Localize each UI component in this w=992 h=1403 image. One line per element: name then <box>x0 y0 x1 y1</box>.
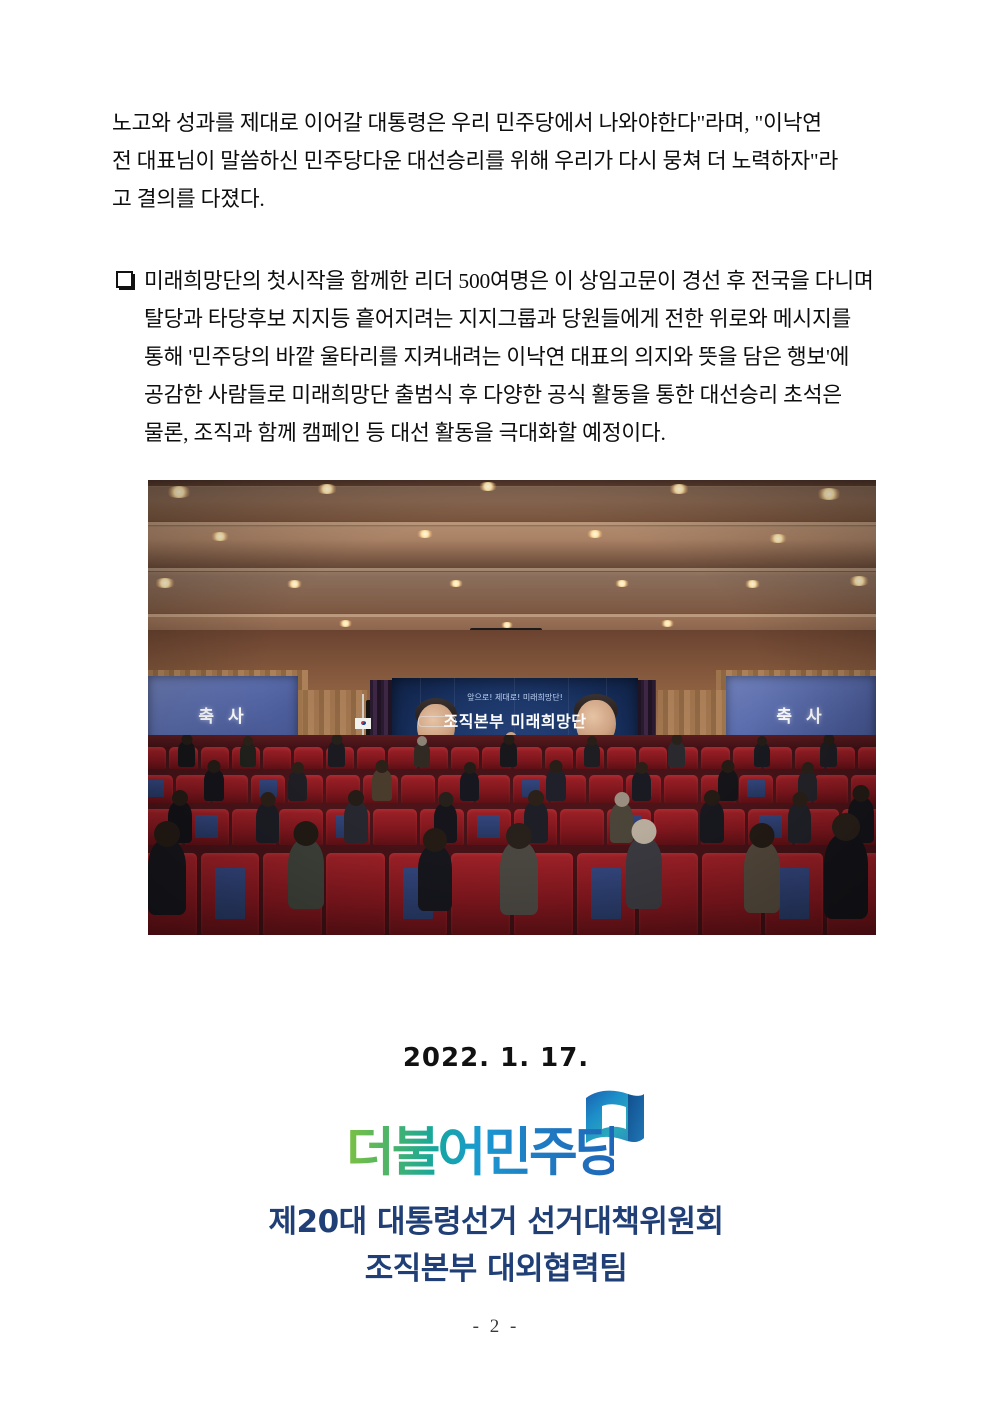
paragraph-continuation: 노고와 성과를 제대로 이어갈 대통령은 우리 민주당에서 나와야한다"라며, … <box>112 104 890 218</box>
organization-line-1: 제20대 대통령선거 선거대책위원회 <box>0 1196 992 1241</box>
document-date: 2022. 1. 17. <box>0 1043 992 1073</box>
paragraph-line-text: 미래희망단의 첫시작을 함께한 리더 500여명은 이 상임고문이 경선 후 전… <box>144 269 874 293</box>
paragraph-line-text: 탈당과 타당후보 지지등 흩어지려는 지지그룹과 당원들에게 전한 위로와 메시… <box>144 307 851 331</box>
audience-person <box>610 803 633 843</box>
paragraph-line-text: 전 대표님이 말씀하신 민주당다운 대선승리를 위해 우리가 다시 뭉쳐 더 노… <box>112 142 838 180</box>
organization-line-2: 조직본부 대외협력팀 <box>0 1243 992 1288</box>
seat-row <box>148 775 876 803</box>
page-number: - 2 - <box>0 1316 992 1338</box>
audience-person <box>824 833 868 919</box>
left-screen-title: 축 사 <box>148 702 298 727</box>
party-logo: 더불어민주당 <box>0 1088 992 1184</box>
paragraph-line: 고 결의를 다졌다. <box>112 180 890 218</box>
audience-person <box>288 771 307 801</box>
audience-person <box>700 801 724 843</box>
banner-tagline: 앞으로! 제대로! 미래희망단! <box>392 692 638 703</box>
party-logo-text: 더불어민주당 <box>346 1126 614 1179</box>
audience-person <box>460 771 479 801</box>
paragraph-line-text: 고 결의를 다졌다. <box>112 187 265 211</box>
paragraph-line: 전 대표님이 말씀하신 민주당다운 대선승리를 위해 우리가 다시 뭉쳐 더 노… <box>112 142 890 180</box>
audience-person <box>288 839 324 909</box>
audience-area <box>148 735 876 935</box>
audience-person <box>626 837 662 909</box>
paragraph-line-text: 노고와 성과를 제대로 이어갈 대통령은 우리 민주당에서 나와야한다"라며, … <box>112 104 822 142</box>
event-photograph: 축 사 - 이낙연 더불어민주당 상임고문 - 축 사 - 이낙연 더불어민주당… <box>148 480 876 935</box>
audience-person <box>820 741 837 767</box>
audience-person <box>328 741 345 767</box>
audience-person <box>744 841 780 913</box>
right-screen-title: 축 사 <box>726 702 876 727</box>
audience-person <box>500 841 538 915</box>
audience-person <box>256 803 279 843</box>
korean-flag <box>355 718 371 729</box>
bullet-row: 미래희망단의 첫시작을 함께한 리더 500여명은 이 상임고문이 경선 후 전… <box>112 262 890 300</box>
paragraph-line: 공감한 사람들로 미래희망단 출범식 후 다양한 공식 활동을 통한 대선승리 … <box>112 376 890 414</box>
audience-person <box>344 801 368 843</box>
paragraph-line: 탈당과 타당후보 지지등 흩어지려는 지지그룹과 당원들에게 전한 위로와 메시… <box>112 300 890 338</box>
paragraph-line-text: 물론, 조직과 함께 캠페인 등 대선 활동을 극대화할 예정이다. <box>144 421 666 445</box>
audience-person <box>546 769 566 801</box>
audience-person <box>668 741 685 767</box>
paragraph-line-text: 통해 '민주당의 바깥 울타리를 지켜내려는 이낙연 대표의 의지와 뜻을 담은… <box>144 345 849 369</box>
audience-person <box>240 743 256 767</box>
audience-person <box>584 743 600 767</box>
audience-person <box>178 741 195 767</box>
audience-person <box>148 839 186 915</box>
audience-person <box>754 743 770 767</box>
audience-person <box>632 771 651 801</box>
document-page: 노고와 성과를 제대로 이어갈 대통령은 우리 민주당에서 나와야한다"라며, … <box>0 0 992 1403</box>
audience-person <box>718 769 738 801</box>
audience-person <box>788 803 811 843</box>
paragraph-line-text: 공감한 사람들로 미래희망단 출범식 후 다양한 공식 활동을 통한 대선승리 … <box>144 383 842 407</box>
paragraph-line: 통해 '민주당의 바깥 울타리를 지켜내려는 이낙연 대표의 의지와 뜻을 담은… <box>112 338 890 376</box>
banner-line-1: 조직본부 미래희망단 <box>392 708 638 732</box>
paragraph-line: 노고와 성과를 제대로 이어갈 대통령은 우리 민주당에서 나와야한다"라며, … <box>112 104 890 142</box>
audience-person <box>418 845 452 911</box>
audience-person <box>500 741 517 767</box>
audience-person <box>414 743 430 767</box>
audience-person <box>204 769 224 801</box>
paragraph-line: 미래희망단의 첫시작을 함께한 리더 500여명은 이 상임고문이 경선 후 전… <box>144 262 890 300</box>
audience-person <box>372 769 392 801</box>
square-bullet-icon <box>116 271 133 288</box>
paragraph-line: 물론, 조직과 함께 캠페인 등 대선 활동을 극대화할 예정이다. <box>112 414 890 452</box>
paragraph-bulleted: 미래희망단의 첫시작을 함께한 리더 500여명은 이 상임고문이 경선 후 전… <box>112 262 890 452</box>
